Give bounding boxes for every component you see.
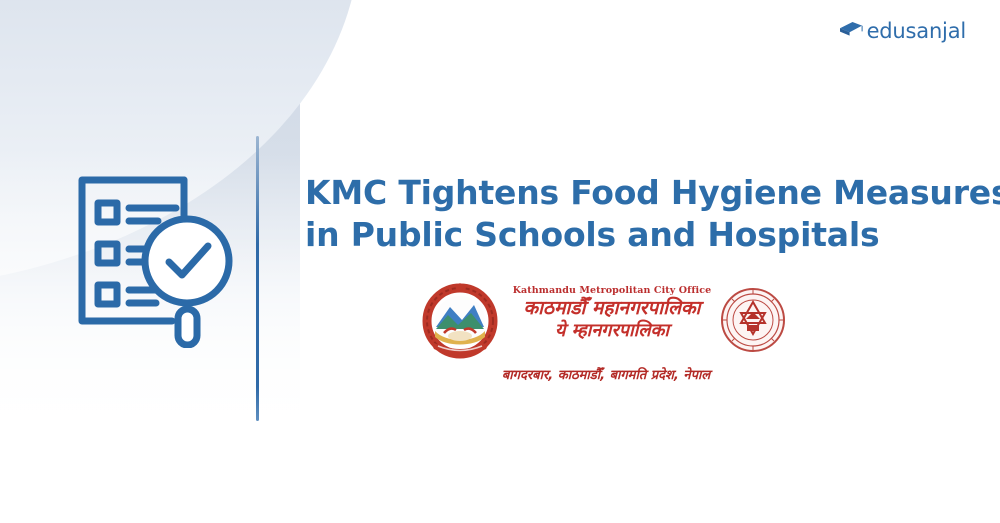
- graduation-cap-icon: [838, 19, 864, 44]
- kmc-circular-seal-icon: [720, 287, 786, 358]
- kmc-english-title: Kathmandu Metropolitan City Office: [492, 285, 732, 296]
- vertical-divider: [256, 136, 259, 421]
- kmc-address: बागदरबार, काठमाडौँ, बागमति प्रदेश, नेपाल: [420, 365, 792, 383]
- brand-name: edusanjal: [867, 21, 966, 42]
- brand-logo[interactable]: edusanjal: [838, 17, 966, 45]
- kmc-nepali-title: काठमाडौँ महानगरपालिका: [492, 298, 732, 320]
- page-title-line-2: in Public Schools and Hospitals: [305, 214, 985, 256]
- news-banner-canvas: edusanjal: [0, 0, 1000, 523]
- page-title-line-1: KMC Tightens Food Hygiene Measures: [305, 172, 985, 214]
- kmc-newari-title: ये म्हानगरपालिका: [492, 321, 732, 342]
- checklist-magnifier-icon: [66, 163, 246, 348]
- nepal-coat-of-arms-icon: [422, 283, 498, 364]
- page-title: KMC Tightens Food Hygiene Measures in Pu…: [305, 172, 985, 256]
- kmc-title-block: Kathmandu Metropolitan City Office काठमा…: [492, 281, 732, 342]
- kmc-letterhead: Kathmandu Metropolitan City Office काठमा…: [420, 281, 792, 389]
